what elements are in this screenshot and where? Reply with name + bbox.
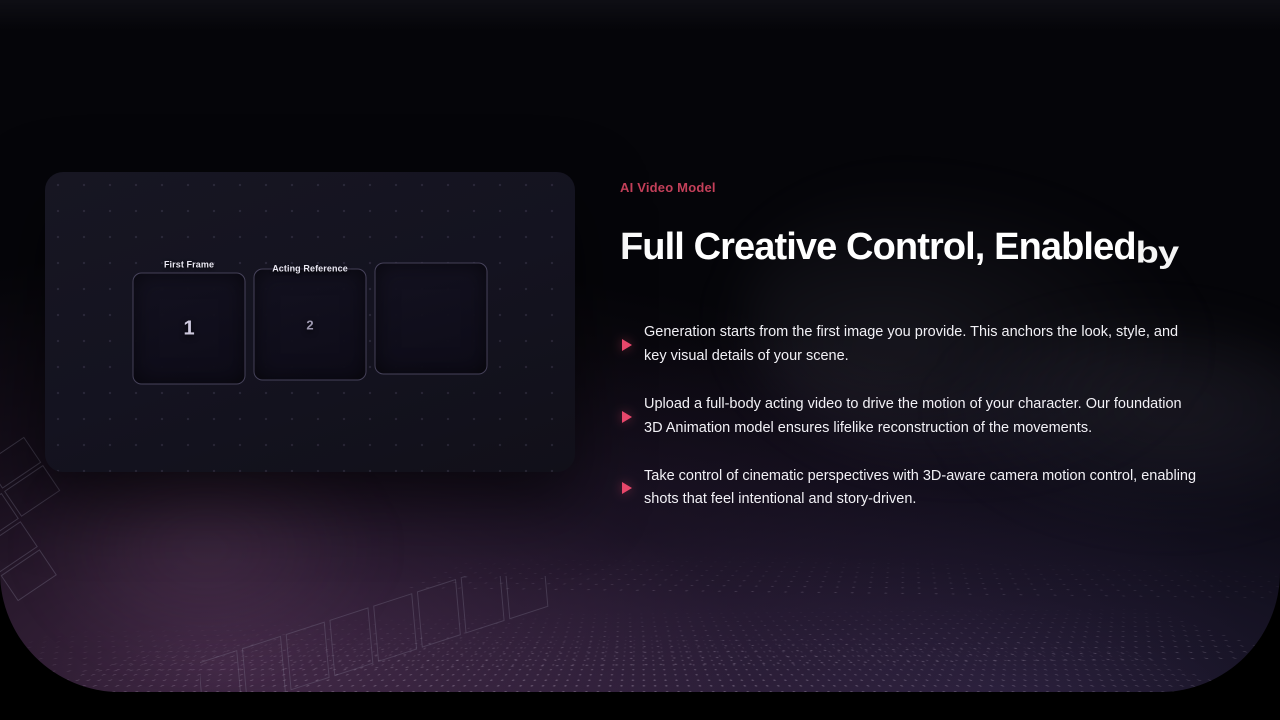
- slot-label: First Frame: [164, 260, 214, 270]
- bullet-text: Take control of cinematic perspectives w…: [644, 465, 1204, 513]
- slot-number: 1: [183, 319, 194, 339]
- section-eyebrow: AI Video Model: [620, 180, 1220, 195]
- slot-dropzone[interactable]: 1: [133, 273, 246, 385]
- list-item: Take control of cinematic perspectives w…: [620, 465, 1220, 513]
- slot-number: 2: [306, 318, 313, 331]
- play-triangle-icon: [622, 339, 632, 351]
- bullet-text: Generation starts from the first image y…: [644, 321, 1204, 369]
- list-item: Generation starts from the first image y…: [620, 321, 1220, 369]
- input-slot-empty[interactable]: [375, 260, 488, 375]
- input-slots-card: First Frame 1 Acting Reference 2: [45, 172, 575, 472]
- slot-dropzone[interactable]: 2: [254, 269, 367, 381]
- page-title: Full Creative Control, Enabledby: [620, 227, 1220, 267]
- input-slot-row: First Frame 1 Acting Reference 2: [133, 260, 488, 385]
- slot-dropzone[interactable]: [375, 263, 488, 375]
- bullet-text: Upload a full-body acting video to drive…: [644, 393, 1204, 441]
- scene-plate: First Frame 1 Acting Reference 2: [0, 0, 1280, 692]
- feature-bullet-list: Generation starts from the first image y…: [620, 321, 1220, 513]
- right-column: AI Video Model Full Creative Control, En…: [620, 180, 1280, 513]
- content-columns: First Frame 1 Acting Reference 2: [0, 0, 1280, 692]
- input-slot-acting-reference[interactable]: Acting Reference 2: [254, 260, 367, 381]
- headline-tail: by: [1136, 236, 1179, 268]
- list-item: Upload a full-body acting video to drive…: [620, 393, 1220, 441]
- headline-main: Full Creative Control, Enabled: [620, 226, 1136, 268]
- left-column: First Frame 1 Acting Reference 2: [0, 220, 620, 472]
- play-triangle-icon: [622, 411, 632, 423]
- input-slot-first-frame[interactable]: First Frame 1: [133, 260, 246, 385]
- play-triangle-icon: [622, 482, 632, 494]
- slot-label: Acting Reference: [272, 264, 348, 274]
- page-stage: First Frame 1 Acting Reference 2: [0, 0, 1280, 720]
